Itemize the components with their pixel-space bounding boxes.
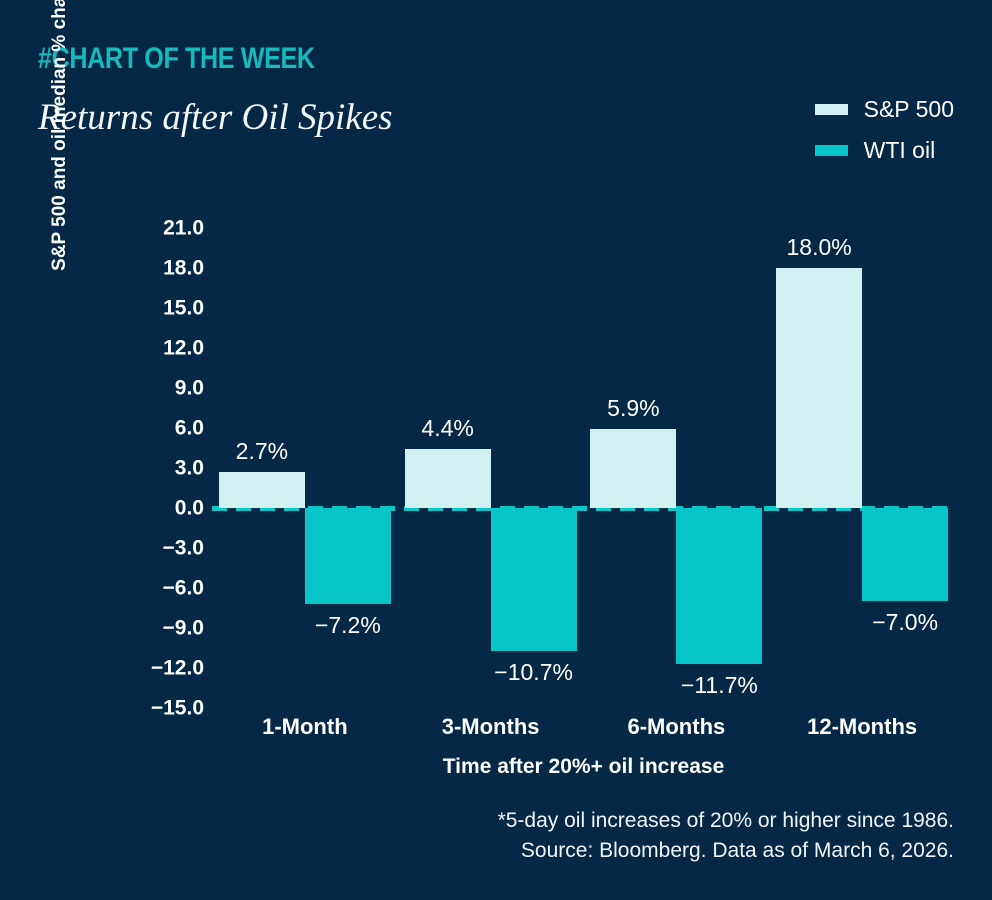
bar-pair: 18.0%−7.0% xyxy=(769,228,955,708)
bar-groups: 2.7%−7.2%1-Month4.4%−10.7%3-Months5.9%−1… xyxy=(212,228,955,708)
bar-slot: 4.4% xyxy=(405,228,491,708)
bar[interactable] xyxy=(491,508,577,651)
legend-item[interactable]: S&P 500 xyxy=(815,98,954,121)
y-axis-tick-label: −15.0 xyxy=(120,698,204,719)
y-axis-tick-label: 9.0 xyxy=(120,378,204,399)
bar-group: 4.4%−10.7%3-Months xyxy=(398,228,584,708)
bar-value-label: 5.9% xyxy=(607,397,659,420)
x-axis-tick-label: 3-Months xyxy=(398,714,584,740)
y-axis-tick-label: −9.0 xyxy=(120,618,204,639)
page-title: Returns after Oil Spikes xyxy=(38,98,393,139)
bar-group: 5.9%−11.7%6-Months xyxy=(584,228,770,708)
legend-swatch-icon xyxy=(815,145,848,156)
x-axis-tick-label: 12-Months xyxy=(769,714,955,740)
bar-value-label: −7.2% xyxy=(315,614,381,637)
bar-slot: −10.7% xyxy=(491,228,577,708)
bar-value-label: 18.0% xyxy=(787,236,852,259)
bar-slot: −11.7% xyxy=(676,228,762,708)
footnote: *5-day oil increases of 20% or higher si… xyxy=(498,806,954,866)
bar-value-label: 2.7% xyxy=(236,440,288,463)
chart-legend: S&P 500WTI oil xyxy=(815,98,954,162)
bar-slot: −7.0% xyxy=(862,228,948,708)
legend-swatch-icon xyxy=(815,104,848,115)
x-axis-tick-label: 6-Months xyxy=(584,714,770,740)
y-axis-tick-label: −3.0 xyxy=(120,538,204,559)
bar-value-label: −10.7% xyxy=(494,661,573,684)
bar-value-label: 4.4% xyxy=(421,417,473,440)
bar[interactable] xyxy=(405,449,491,508)
kicker-label: #CHART OF THE WEEK xyxy=(38,44,315,74)
legend-item-label: WTI oil xyxy=(864,139,936,162)
y-axis-tick-label: 21.0 xyxy=(120,218,204,239)
y-axis-tick-label: −12.0 xyxy=(120,658,204,679)
chart-canvas: #CHART OF THE WEEK Returns after Oil Spi… xyxy=(0,0,992,900)
y-axis-tick-label: 6.0 xyxy=(120,418,204,439)
bar-pair: 4.4%−10.7% xyxy=(398,228,584,708)
footnote-line-1: *5-day oil increases of 20% or higher si… xyxy=(498,806,954,836)
plot-area: 2.7%−7.2%1-Month4.4%−10.7%3-Months5.9%−1… xyxy=(212,228,955,708)
x-axis-title: Time after 20%+ oil increase xyxy=(212,755,955,779)
y-axis-tick-label: 3.0 xyxy=(120,458,204,479)
bar-slot: −7.2% xyxy=(305,228,391,708)
y-axis-tick-label: 18.0 xyxy=(120,258,204,279)
bar-pair: 5.9%−11.7% xyxy=(584,228,770,708)
y-axis-tick-label: −6.0 xyxy=(120,578,204,599)
bar-pair: 2.7%−7.2% xyxy=(212,228,398,708)
y-axis-tick-label: 0.0 xyxy=(120,498,204,519)
bar[interactable] xyxy=(862,508,948,601)
y-axis-tick-label: 15.0 xyxy=(120,298,204,319)
y-axis-ticks: 21.018.015.012.09.06.03.00.0−3.0−6.0−9.0… xyxy=(118,228,204,708)
bar[interactable] xyxy=(305,508,391,604)
bar-group: 18.0%−7.0%12-Months xyxy=(769,228,955,708)
bar-slot: 2.7% xyxy=(219,228,305,708)
bar-value-label: −11.7% xyxy=(681,674,758,697)
bar-slot: 18.0% xyxy=(776,228,862,708)
bar-value-label: −7.0% xyxy=(872,611,938,634)
bar[interactable] xyxy=(776,268,862,508)
bar[interactable] xyxy=(676,508,762,664)
x-axis-tick-label: 1-Month xyxy=(212,714,398,740)
bar-group: 2.7%−7.2%1-Month xyxy=(212,228,398,708)
legend-item-label: S&P 500 xyxy=(864,98,954,121)
bar[interactable] xyxy=(590,429,676,508)
bar-slot: 5.9% xyxy=(590,228,676,708)
footnote-line-2: Source: Bloomberg. Data as of March 6, 2… xyxy=(498,836,954,866)
legend-item[interactable]: WTI oil xyxy=(815,139,936,162)
y-axis-tick-label: 12.0 xyxy=(120,338,204,359)
bar[interactable] xyxy=(219,472,305,508)
